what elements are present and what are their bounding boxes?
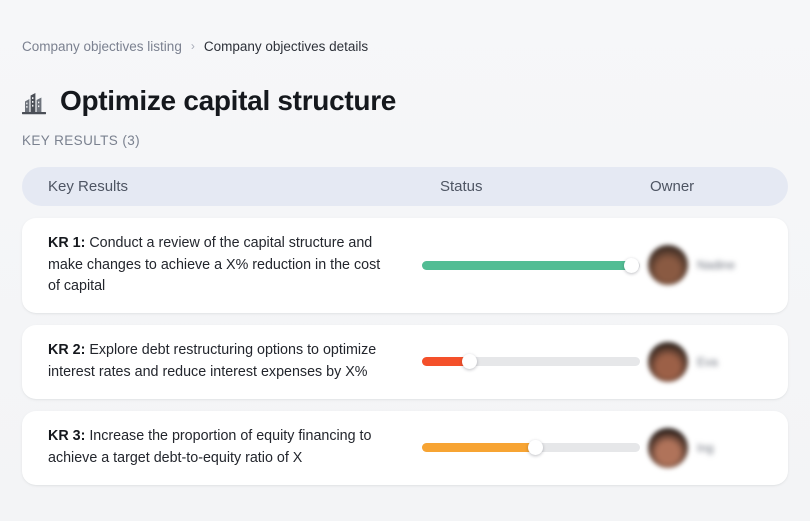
breadcrumb-link-listing[interactable]: Company objectives listing [22,38,182,56]
progress-fill [422,261,631,270]
table-row[interactable]: KR 2: Explore debt restructuring options… [22,325,788,399]
key-results-section-label: KEY RESULTS (3) [22,132,140,150]
avatar-image [648,342,688,382]
avatar-image [648,428,688,468]
column-header-owner: Owner [640,177,788,197]
avatar[interactable] [648,245,688,285]
column-header-key-results: Key Results [22,177,412,197]
owner-name: Eva [697,354,718,370]
breadcrumb-current-details: Company objectives details [204,38,368,56]
key-result-text-cell: KR 3: Increase the proportion of equity … [22,411,412,484]
key-result-tag: KR 2: [48,342,85,358]
owner-cell: Ing [640,428,788,468]
owner-name: Ing [697,440,714,456]
breadcrumb-separator-icon: › [191,37,195,55]
table-body: KR 1: Conduct a review of the capital st… [22,218,788,485]
avatar-image [648,245,688,285]
progress-slider[interactable] [422,357,640,366]
breadcrumb: Company objectives listing › Company obj… [22,38,368,56]
progress-fill [422,443,535,452]
progress-knob[interactable] [528,440,543,455]
key-result-tag: KR 1: [48,235,85,251]
status-cell [412,357,640,366]
progress-knob[interactable] [462,354,477,369]
avatar[interactable] [648,342,688,382]
key-result-description: Conduct a review of the capital structur… [48,235,380,294]
status-cell [412,261,640,270]
progress-slider[interactable] [422,443,640,452]
progress-slider[interactable] [422,261,640,270]
status-cell [412,443,640,452]
key-result-text-cell: KR 1: Conduct a review of the capital st… [22,218,412,313]
key-result-tag: KR 3: [48,428,85,444]
table-header-row: Key Results Status Owner [22,167,788,206]
owner-cell: Eva [640,342,788,382]
key-result-description: Increase the proportion of equity financ… [48,428,371,466]
key-result-text-cell: KR 2: Explore debt restructuring options… [22,325,412,398]
key-result-description: Explore debt restructuring options to op… [48,342,376,380]
progress-knob[interactable] [624,258,639,273]
page-title: Optimize capital structure [60,84,396,118]
column-header-status: Status [412,177,640,197]
table-row[interactable]: KR 3: Increase the proportion of equity … [22,411,788,485]
page-header: Optimize capital structure [20,65,396,137]
avatar[interactable] [648,428,688,468]
page-background: Company objectives listing › Company obj… [0,0,810,521]
key-results-table: Key Results Status Owner KR 1: Conduct a… [22,167,788,485]
owner-cell: Nadine [640,245,788,285]
cityscape-buildings-icon [20,88,48,118]
table-row[interactable]: KR 1: Conduct a review of the capital st… [22,218,788,313]
owner-name: Nadine [697,257,735,273]
